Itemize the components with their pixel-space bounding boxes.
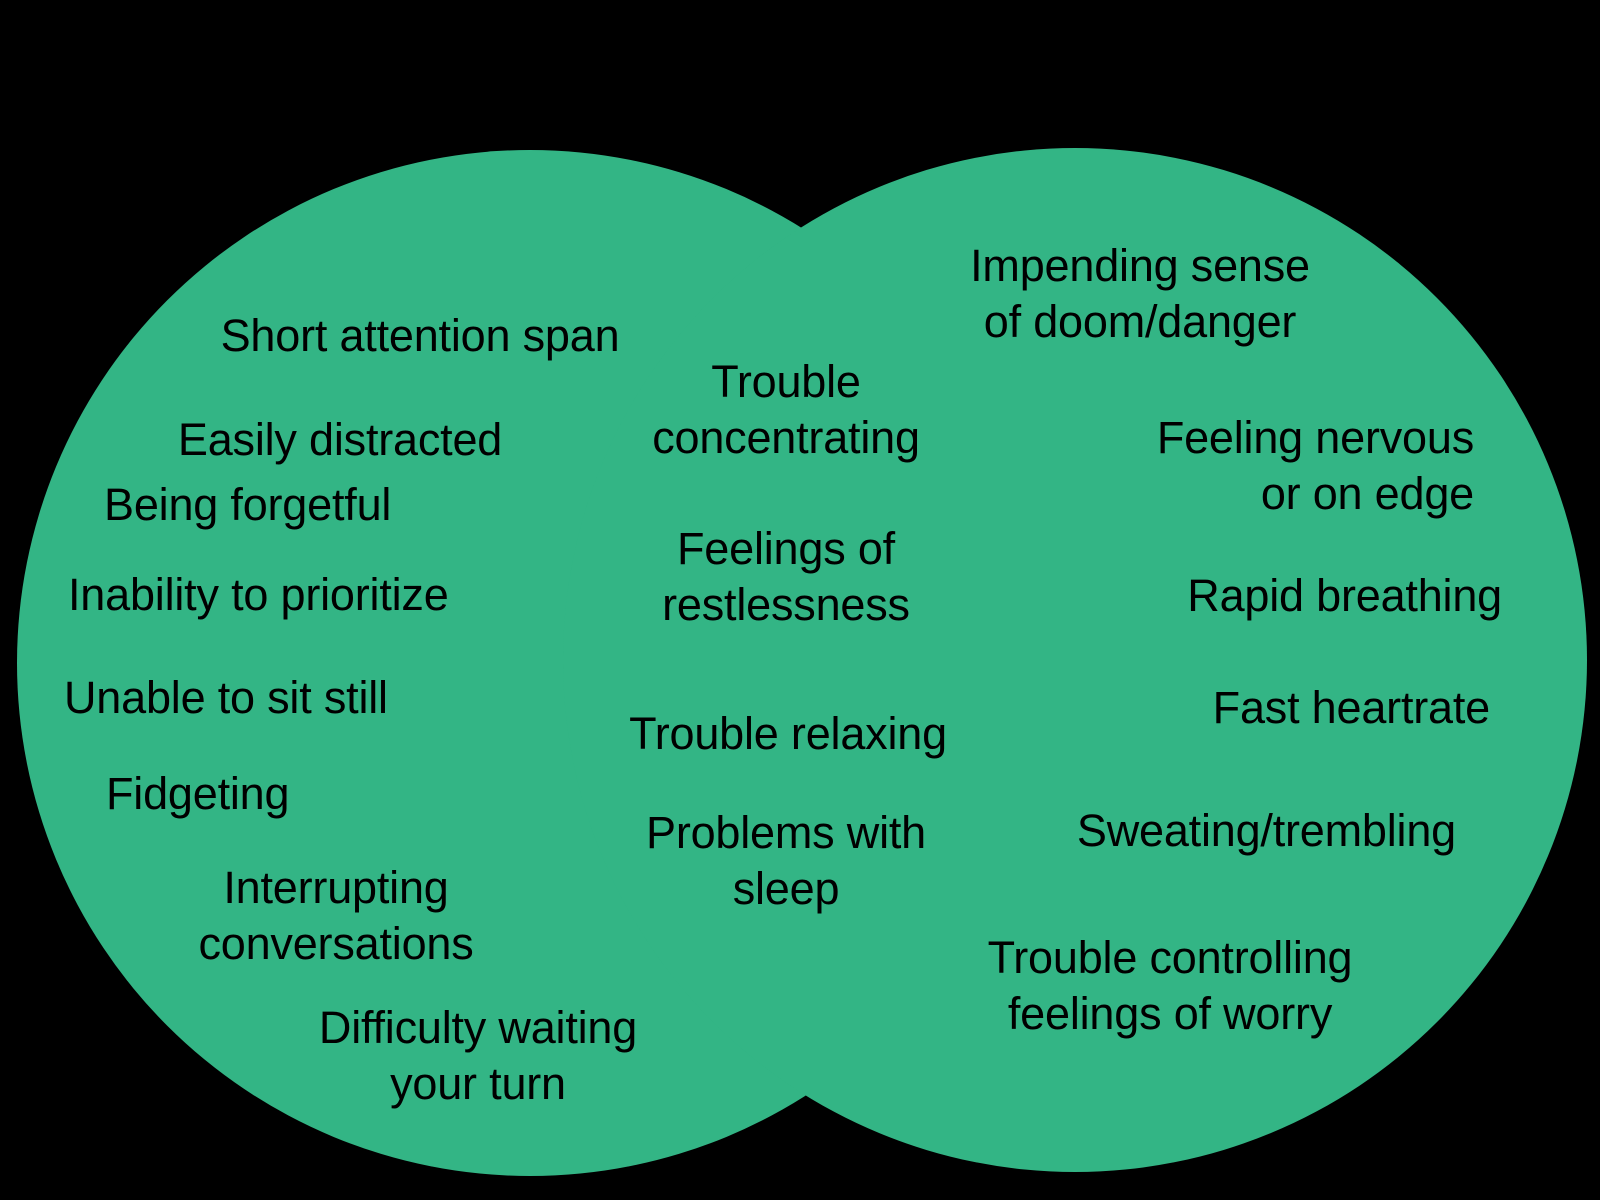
venn-label-line: concentrating — [652, 410, 920, 466]
venn-label-line: restlessness — [662, 577, 910, 633]
venn-label-line: Easily distracted — [178, 412, 502, 468]
venn-label-overlap-3: Problems withsleep — [646, 805, 926, 917]
venn-label-left_only-1: Easily distracted — [178, 412, 502, 468]
venn-label-left_only-4: Unable to sit still — [64, 670, 388, 726]
venn-label-line: Interrupting — [198, 860, 473, 916]
venn-label-right_only-5: Trouble controllingfeelings of worry — [988, 930, 1353, 1042]
venn-label-right_only-1: Fast heartrate — [1213, 680, 1490, 736]
venn-label-line: Unable to sit still — [64, 670, 388, 726]
venn-diagram-canvas: Short attention spanEasily distractedBei… — [0, 0, 1600, 1200]
venn-label-line: or on edge — [1157, 466, 1474, 522]
venn-label-right_only-0: Rapid breathing — [1187, 568, 1502, 624]
venn-label-line: Feeling nervous — [1157, 410, 1474, 466]
venn-label-line: Fast heartrate — [1213, 680, 1490, 736]
venn-label-left_only-6: Interruptingconversations — [198, 860, 473, 972]
venn-label-line: Trouble controlling — [988, 930, 1353, 986]
venn-label-line: feelings of worry — [988, 986, 1353, 1042]
venn-label-line: Trouble — [652, 354, 920, 410]
venn-label-line: Rapid breathing — [1187, 568, 1502, 624]
venn-label-line: Feelings of — [662, 521, 910, 577]
venn-label-right_only-3: Impending senseof doom/danger — [970, 238, 1310, 350]
venn-label-line: Fidgeting — [106, 766, 289, 822]
venn-label-line: Problems with — [646, 805, 926, 861]
venn-label-left_only-5: Fidgeting — [106, 766, 289, 822]
venn-label-right_only-2: Sweating/trembling — [1077, 803, 1456, 859]
venn-label-left_only-7: Difficulty waitingyour turn — [319, 1000, 637, 1112]
venn-label-line: of doom/danger — [970, 294, 1310, 350]
venn-label-left_only-0: Short attention span — [221, 308, 620, 364]
venn-label-line: Sweating/trembling — [1077, 803, 1456, 859]
venn-label-line: Difficulty waiting — [319, 1000, 637, 1056]
venn-label-line: conversations — [198, 916, 473, 972]
venn-label-line: Impending sense — [970, 238, 1310, 294]
venn-label-line: Inability to prioritize — [68, 567, 449, 623]
venn-label-line: Trouble relaxing — [629, 706, 947, 762]
venn-label-right_only-4: Feeling nervousor on edge — [1157, 410, 1474, 522]
venn-label-line: Being forgetful — [104, 477, 391, 533]
venn-label-overlap-1: Troubleconcentrating — [652, 354, 920, 466]
venn-label-line: your turn — [319, 1056, 637, 1112]
venn-label-left_only-2: Being forgetful — [104, 477, 391, 533]
venn-label-overlap-2: Feelings ofrestlessness — [662, 521, 910, 633]
venn-label-line: Short attention span — [221, 308, 620, 364]
venn-label-line: sleep — [646, 861, 926, 917]
venn-label-left_only-3: Inability to prioritize — [68, 567, 449, 623]
venn-label-overlap-0: Trouble relaxing — [629, 706, 947, 762]
